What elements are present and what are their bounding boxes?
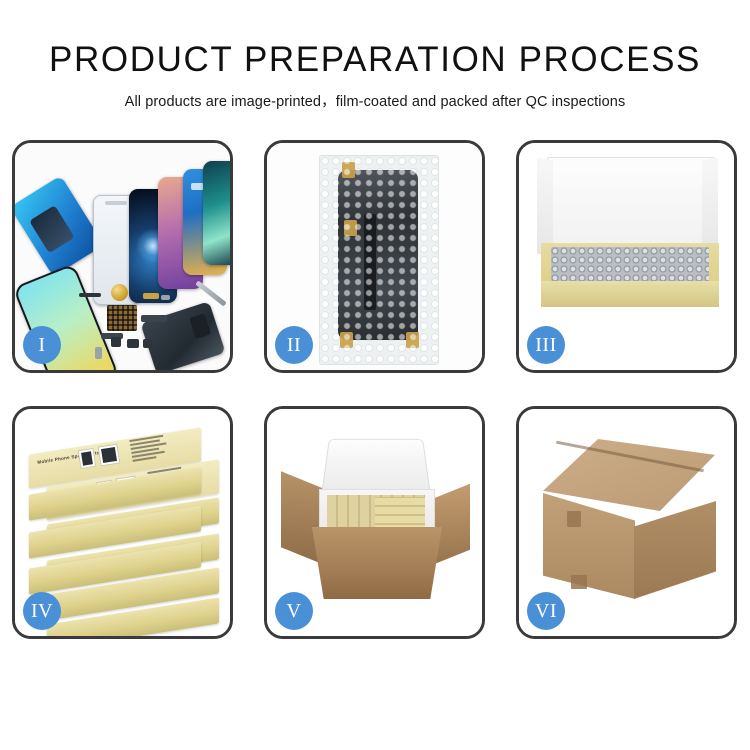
box-lid-flap-right [702, 158, 718, 257]
page-subtitle: All products are image-printed，film-coat… [0, 90, 750, 111]
bubble-wrap-bag [319, 155, 439, 365]
step-badge-6: VI [527, 592, 565, 630]
phone-teal-display [203, 161, 230, 265]
part-connector-1 [95, 347, 102, 359]
carton-body [303, 527, 451, 599]
box-front-panel [541, 281, 719, 307]
part-connector-2 [161, 295, 170, 300]
gold-coil-part [111, 284, 128, 301]
process-step-grid: I II III [12, 140, 738, 639]
part-chip-1 [111, 337, 121, 347]
process-step-3: III [516, 140, 737, 373]
chip-array-part [107, 305, 137, 331]
part-chip-2 [127, 339, 139, 348]
process-step-4: Mobile Phone Spare Parts Mobile Phone Sp… [12, 406, 233, 639]
process-step-5: V [264, 406, 485, 639]
phone-back-housing [140, 301, 225, 370]
process-step-6: VI [516, 406, 737, 639]
part-gold-1 [143, 293, 159, 299]
part-chip-3 [143, 339, 152, 348]
part-flex-2 [141, 315, 167, 322]
phone-blue-back [15, 175, 104, 276]
box-lid-flap-left [537, 158, 553, 257]
process-step-2: II [264, 140, 485, 373]
step-badge-1: I [23, 326, 61, 364]
bubble-foam-padding [551, 247, 709, 283]
page-title: PRODUCT PREPARATION PROCESS [0, 40, 750, 80]
carton-left-face [543, 493, 635, 599]
carton-tape-lower [571, 575, 587, 589]
carton-right-face [634, 501, 716, 599]
page-header: PRODUCT PREPARATION PROCESS All products… [0, 0, 750, 111]
carton-tape-upper [567, 511, 581, 527]
carton-top-face [543, 439, 715, 511]
step-badge-4: IV [23, 592, 61, 630]
step-badge-2: II [275, 326, 313, 364]
process-step-1: I [12, 140, 233, 373]
box-label-thumb-rear-1 [78, 448, 97, 469]
part-strip-1 [79, 293, 101, 297]
bubble-texture-overlay [320, 156, 438, 364]
box-label-thumb-rear-2 [98, 444, 121, 467]
step-badge-3: III [527, 326, 565, 364]
tweezers-tool [195, 280, 226, 306]
step-badge-5: V [275, 592, 313, 630]
